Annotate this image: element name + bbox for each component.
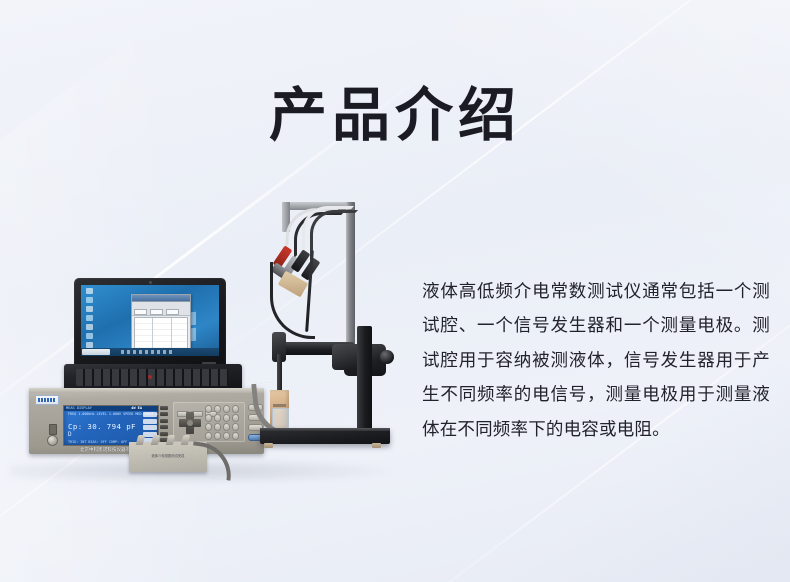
dpad-icon [179, 412, 201, 434]
lcd-header-mode-text: 4W EA [131, 406, 142, 411]
stand-top-bar [282, 202, 355, 210]
lcd-header-bar: MEAS DISPLAY 4W EA [64, 406, 158, 411]
test-fixture-accessory: 液体介电常数测试夹具 [129, 442, 207, 472]
product-description-text: 液体高低频介电常数测试仪通常包括一个测试腔、一个信号发生器和一个测量电极。测试腔… [422, 274, 770, 447]
control-laptop [64, 278, 242, 400]
probe-cable-white [285, 207, 338, 249]
stand-adjustment-knob [380, 350, 394, 364]
stand-base-plate [260, 428, 390, 444]
taskbar-start-icon [82, 349, 110, 355]
laptop-screen [81, 285, 219, 356]
usb-port-icon [49, 424, 57, 435]
lcd-status-line: TRIG: INT BIAS: OFF COMP: OFF [68, 440, 138, 444]
stand-foot [264, 443, 273, 448]
lcd-secondary-reading: D [68, 431, 72, 439]
windows-taskbar [81, 348, 219, 356]
meter-top-edge [29, 388, 264, 393]
product-photo: MEAS DISPLAY 4W EA FREQ 1.000kHz LEVEL 1… [4, 176, 404, 498]
lcd-primary-reading: Cp: 30. 794 pF [68, 422, 136, 431]
laptop-keyboard [76, 369, 228, 386]
laptop-lid [74, 278, 226, 368]
stand-vertical-post [357, 326, 372, 432]
app-titlebar [132, 295, 190, 302]
lcd-parameter-text: FREQ 1.000kHz LEVEL 1.000V SPEED MED RAN… [68, 412, 130, 422]
meter-brand-logo [35, 395, 59, 405]
laptop-webcam-icon [149, 281, 152, 284]
fixture-terminals [137, 435, 199, 445]
meter-numeric-keypad [205, 405, 239, 440]
page-title: 产品介绍 [0, 83, 790, 149]
trackpoint-icon [148, 375, 152, 379]
stand-adjustment-knob [332, 344, 350, 370]
power-button-icon [47, 435, 58, 446]
app-toolbar [132, 302, 190, 316]
taskbar-tray-icons [121, 350, 173, 354]
stand-foot [372, 443, 381, 448]
product-intro-page: 产品介绍 液体高低频介电常数测试仪通常包括一个测试腔、一个信号发生器和一个测量电… [0, 0, 790, 582]
stand-upright-post [346, 202, 355, 348]
probe-cable-loop [270, 262, 315, 339]
desktop-icons [84, 288, 108, 350]
measurement-software-window [131, 294, 191, 356]
stand-left-bar [282, 202, 290, 232]
electrode-test-stand [252, 194, 404, 484]
lcd-header-left-text: MEAS DISPLAY [66, 406, 92, 411]
